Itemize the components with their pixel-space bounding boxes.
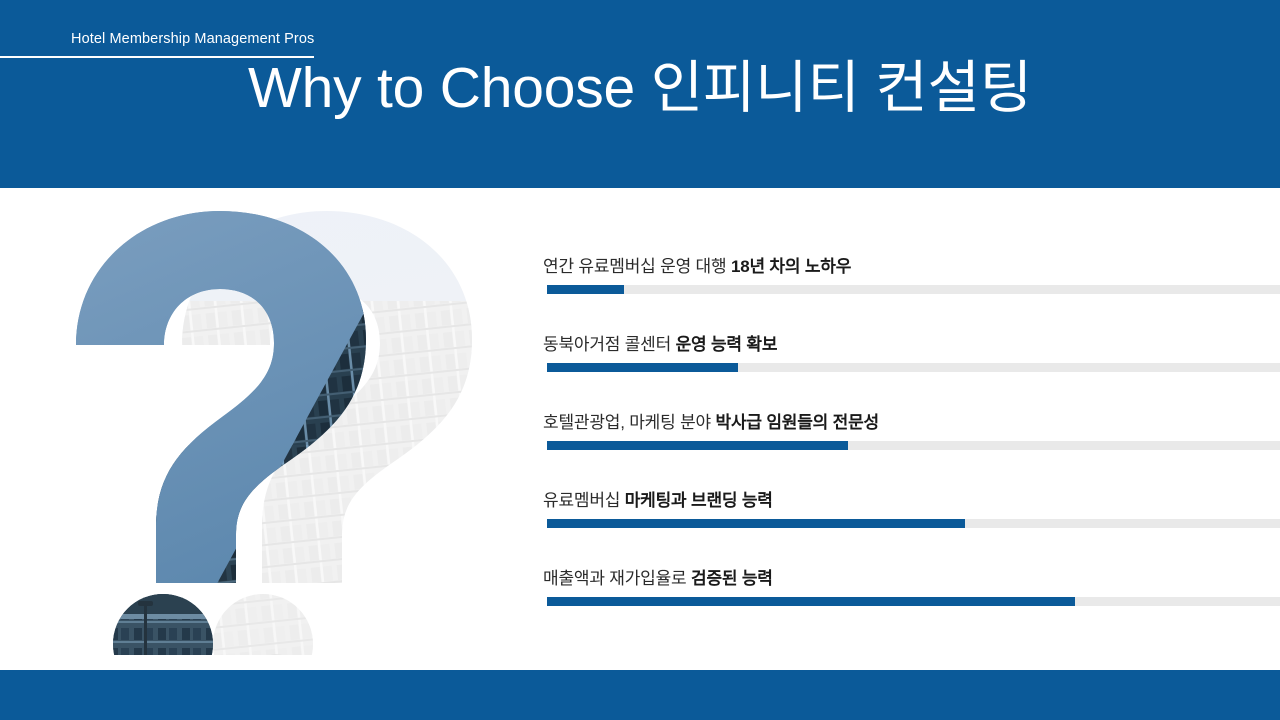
progress-track [547, 441, 1280, 450]
list-item: 동북아거점 콜센터 운영 능력 확보 [0, 318, 1280, 396]
list-item-text: 호텔관광업, 마케팅 분야 박사급 임원들의 전문성 [543, 408, 879, 433]
footer-band [0, 670, 1280, 720]
list-item: 매출액과 재가입율로 검증된 능력 [0, 552, 1280, 630]
list-item-text: 동북아거점 콜센터 운영 능력 확보 [543, 330, 777, 355]
progress-fill [547, 597, 1075, 606]
slide: Hotel Membership Management Pros Why to … [0, 0, 1280, 720]
list-item-lead: 유료멤버십 [543, 491, 625, 510]
progress-track [547, 363, 1280, 372]
list-item-text: 연간 유료멤버십 운영 대행 18년 차의 노하우 [543, 252, 851, 277]
list-item-lead: 호텔관광업, 마케팅 분야 [543, 413, 716, 432]
capability-list: 연간 유료멤버십 운영 대행 18년 차의 노하우 동북아거점 콜센터 운영 능… [0, 240, 1280, 630]
progress-track [547, 285, 1280, 294]
page-title-en: Why to Choose [248, 56, 651, 120]
list-item-emphasis: 검증된 능력 [691, 569, 773, 588]
progress-fill [547, 519, 965, 528]
list-item-lead: 매출액과 재가입율로 [543, 569, 691, 588]
list-item-lead: 연간 유료멤버십 운영 대행 [543, 257, 731, 276]
list-item: 연간 유료멤버십 운영 대행 18년 차의 노하우 [0, 240, 1280, 318]
progress-track [547, 597, 1280, 606]
header-band: Hotel Membership Management Pros Why to … [0, 0, 1280, 188]
list-item: 유료멤버십 마케팅과 브랜딩 능력 [0, 474, 1280, 552]
page-title: Why to Choose 인피니티 컨설팅 [0, 57, 1280, 120]
list-item-text: 유료멤버십 마케팅과 브랜딩 능력 [543, 486, 773, 511]
progress-fill [547, 285, 624, 294]
list-item-text: 매출액과 재가입율로 검증된 능력 [543, 564, 773, 589]
list-item-emphasis: 마케팅과 브랜딩 능력 [625, 491, 773, 510]
list-item: 호텔관광업, 마케팅 분야 박사급 임원들의 전문성 [0, 396, 1280, 474]
progress-fill [547, 441, 848, 450]
list-item-emphasis: 박사급 임원들의 전문성 [716, 413, 879, 432]
list-item-lead: 동북아거점 콜센터 [543, 335, 676, 354]
eyebrow-text: Hotel Membership Management Pros [71, 31, 314, 47]
page-title-kr: 인피니티 컨설팅 [651, 56, 1032, 120]
progress-track [547, 519, 1280, 528]
list-item-emphasis: 18년 차의 노하우 [731, 257, 851, 276]
list-item-emphasis: 운영 능력 확보 [676, 335, 778, 354]
progress-fill [547, 363, 738, 372]
